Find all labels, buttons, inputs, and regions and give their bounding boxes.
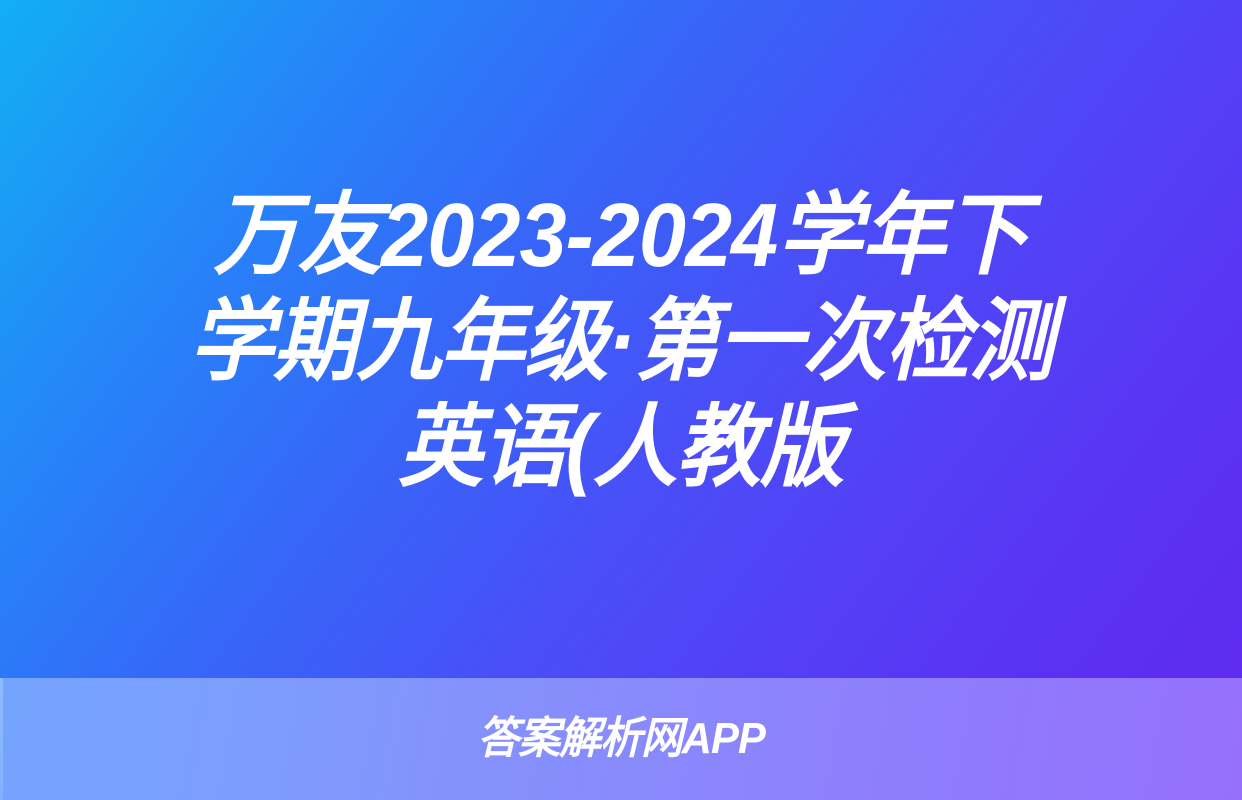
- title-line-2: 学期九年级·第一次检测: [123, 289, 1119, 395]
- footer-watermark-band: 答案解析网APP: [0, 678, 1242, 800]
- cover-card: 万友2023-2024学年下 学期九年级·第一次检测 英语(人教版 答案解析网A…: [0, 0, 1242, 800]
- page-title: 万友2023-2024学年下 学期九年级·第一次检测 英语(人教版: [91, 183, 1151, 501]
- hero-gradient-panel: 万友2023-2024学年下 学期九年级·第一次检测 英语(人教版: [0, 0, 1242, 678]
- title-line-1: 万友2023-2024学年下: [123, 183, 1119, 289]
- app-watermark-label: 答案解析网APP: [477, 715, 764, 763]
- title-line-3: 英语(人教版: [123, 395, 1119, 501]
